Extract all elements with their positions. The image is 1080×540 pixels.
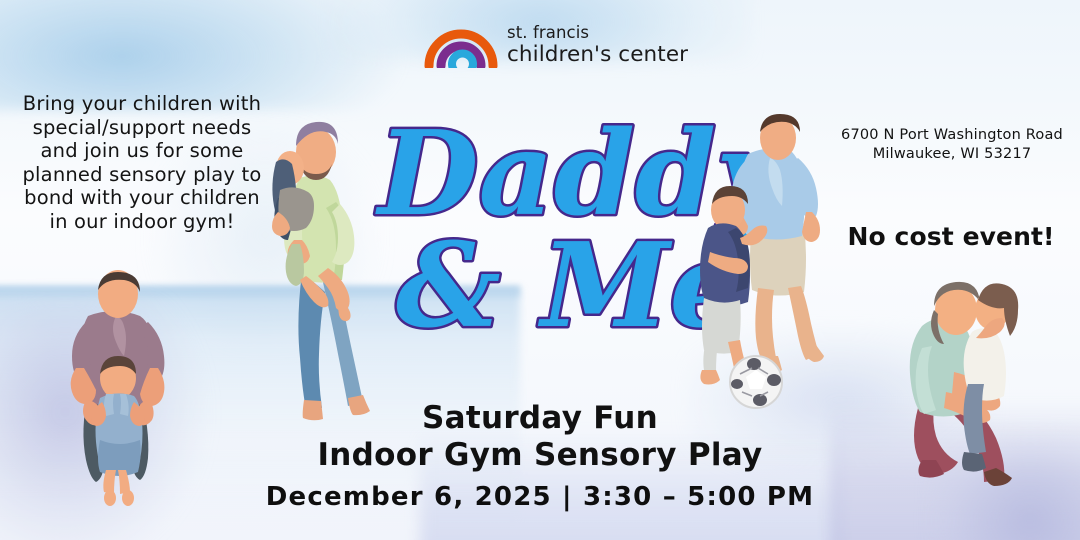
father-carrying-daughter-art [256,112,388,428]
father-lifting-toddler-illustration [42,272,198,520]
father-carrying-daughter-illustration [256,112,388,428]
subtitle-line-2: Indoor Gym Sensory Play [220,437,860,474]
event-description: Bring your children with special/support… [14,92,270,234]
father-hugging-child-illustration [900,276,1070,516]
venue-address: 6700 N Port Washington Road Milwaukee, W… [832,126,1072,163]
event-title-script: Daddy & Me [372,96,712,342]
event-datetime: December 6, 2025 | 3:30 – 5:00 PM [190,482,890,512]
event-subtitle: Saturday Fun Indoor Gym Sensory Play [220,400,860,473]
organization-logo: st. francis children's center [424,24,688,68]
father-lifting-toddler-art [42,272,198,520]
logo-wordmark: st. francis children's center [507,25,688,67]
watercolor-wash-bottom-right [830,400,1080,540]
nested-arcs-icon [424,24,498,68]
address-line-2: Milwaukee, WI 53217 [832,145,1072,164]
logo-line-1: st. francis [507,25,688,42]
no-cost-badge: No cost event! [836,222,1066,251]
poster-canvas: st. francis children's center Bring your… [0,0,1080,540]
subtitle-line-1: Saturday Fun [220,400,860,437]
address-line-1: 6700 N Port Washington Road [832,126,1072,145]
title-line-2: & Me [396,218,743,354]
event-title: Daddy & Me [372,96,712,342]
logo-line-2: children's center [507,44,688,66]
father-hugging-child-art [900,276,1070,516]
watercolor-wash-bottom-right-2 [930,430,1080,540]
